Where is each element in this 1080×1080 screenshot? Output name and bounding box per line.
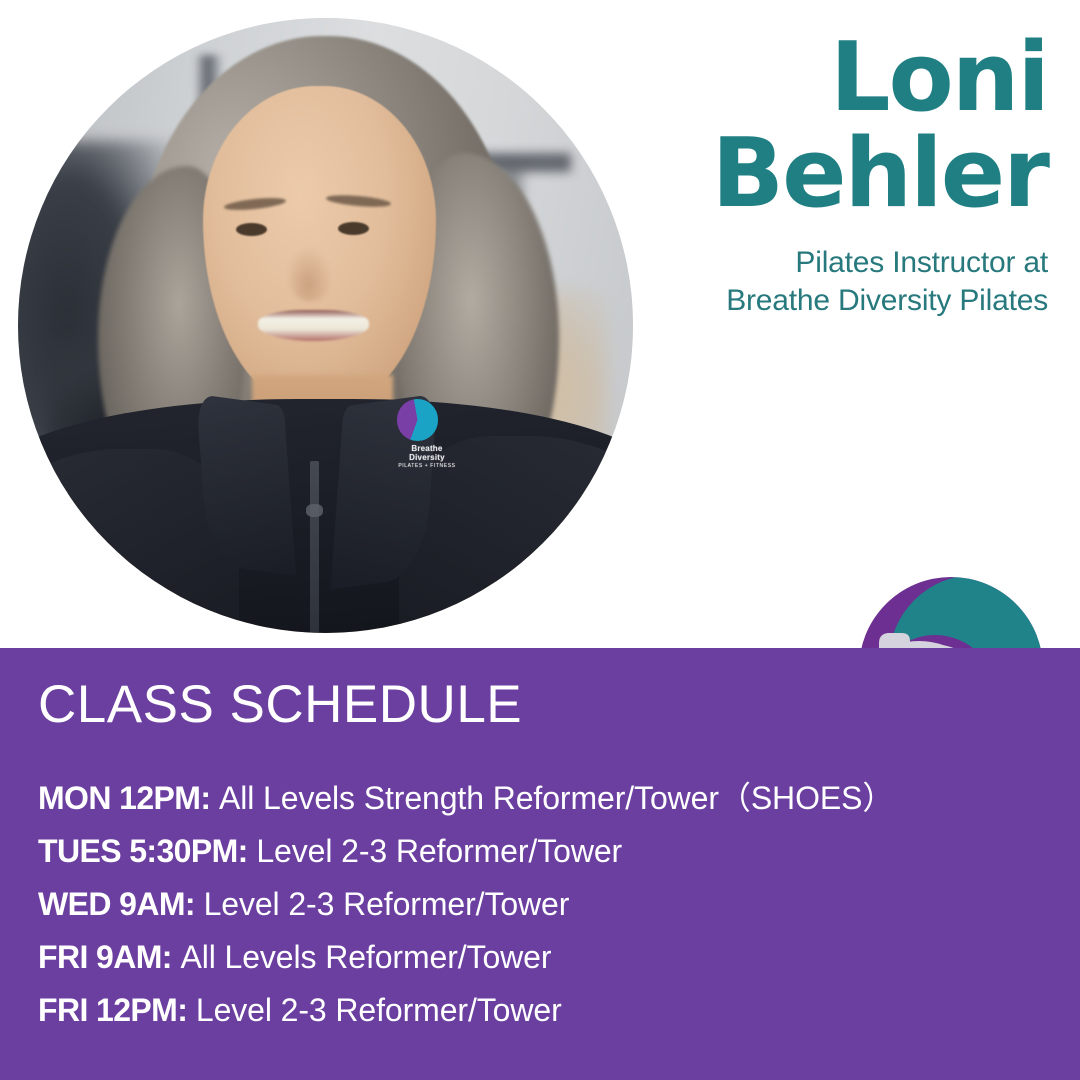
- schedule-row-when: TUES 5:30PM:: [38, 833, 248, 869]
- portrait-mouth: [258, 310, 369, 341]
- schedule-row: TUES 5:30PM: Level 2-3 Reformer/Tower: [38, 825, 1048, 878]
- schedule-row-when: FRI 12PM:: [38, 992, 187, 1028]
- schedule-row-what: Level 2-3 Reformer/Tower: [204, 886, 570, 922]
- chest-logo-line2: Diversity: [387, 453, 467, 462]
- schedule-row-what: All Levels Strength Reformer/Tower（SHOES…: [219, 780, 894, 816]
- chest-logo-tagline: PILATES + FITNESS: [387, 462, 467, 471]
- chest-logo-line1: Breathe: [387, 444, 467, 453]
- instructor-role-line-2: Breathe Diversity Pilates: [618, 282, 1048, 320]
- instructor-schedule-card: Breathe Diversity PILATES + FITNESS Loni…: [0, 0, 1080, 1080]
- class-schedule-panel: CLASS SCHEDULE MON 12PM: All Levels Stre…: [0, 648, 1080, 1080]
- schedule-row: FRI 9AM: All Levels Reformer/Tower: [38, 931, 1048, 984]
- class-schedule-heading: CLASS SCHEDULE: [38, 675, 522, 735]
- portrait-eye-right: [338, 222, 369, 235]
- portrait-jacket-zipper-pull: [306, 504, 323, 518]
- schedule-row-when: WED 9AM:: [38, 886, 195, 922]
- instructor-last-name: Behler: [618, 126, 1048, 222]
- chest-logo-text: Breathe Diversity PILATES + FITNESS: [387, 444, 467, 471]
- portrait-nose: [289, 246, 332, 301]
- schedule-row: MON 12PM: All Levels Strength Reformer/T…: [38, 772, 1048, 825]
- class-schedule-list: MON 12PM: All Levels Strength Reformer/T…: [38, 772, 1048, 1037]
- schedule-row-when: MON 12PM:: [38, 780, 210, 816]
- schedule-row-what: All Levels Reformer/Tower: [180, 939, 551, 975]
- portrait-face: [203, 86, 437, 406]
- schedule-row: FRI 12PM: Level 2-3 Reformer/Tower: [38, 984, 1048, 1037]
- instructor-portrait: Breathe Diversity PILATES + FITNESS: [18, 18, 633, 633]
- instructor-role: Pilates Instructor at Breathe Diversity …: [618, 244, 1048, 320]
- schedule-row-what: Level 2-3 Reformer/Tower: [196, 992, 562, 1028]
- instructor-first-name: Loni: [618, 30, 1048, 126]
- chest-logo-ring: [397, 399, 439, 441]
- breathe-diversity-chest-logo-icon: Breathe Diversity PILATES + FITNESS: [387, 399, 467, 479]
- schedule-row-what: Level 2-3 Reformer/Tower: [256, 833, 622, 869]
- instructor-role-line-1: Pilates Instructor at: [618, 244, 1048, 282]
- schedule-row: WED 9AM: Level 2-3 Reformer/Tower: [38, 878, 1048, 931]
- schedule-row-when: FRI 9AM:: [38, 939, 172, 975]
- instructor-name-block: Loni Behler Pilates Instructor at Breath…: [618, 30, 1048, 320]
- portrait-jacket-zipper: [310, 461, 319, 633]
